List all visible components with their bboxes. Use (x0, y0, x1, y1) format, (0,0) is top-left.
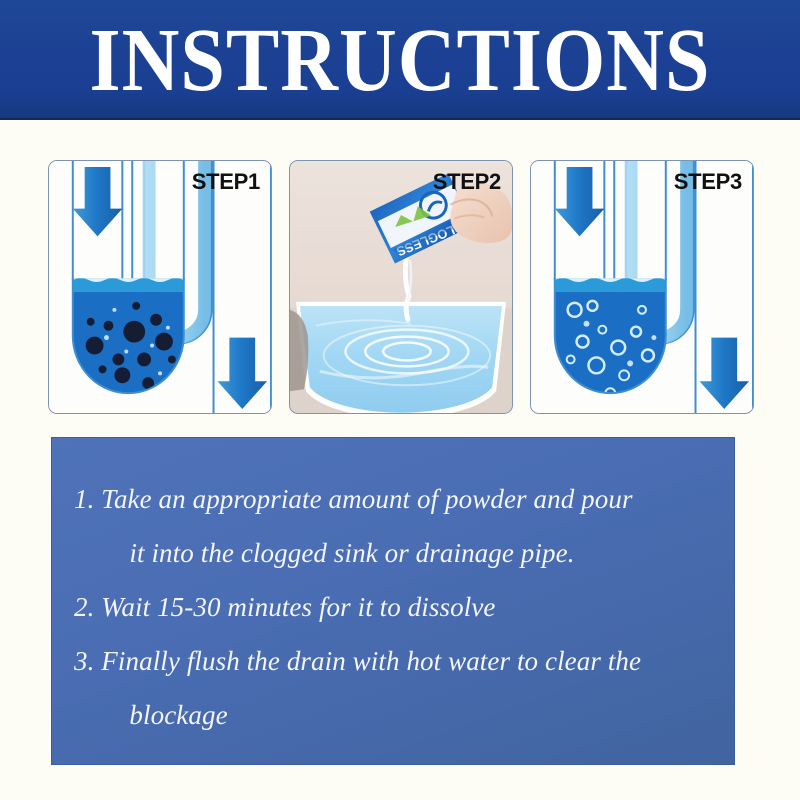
step-panel-3: STEP3 (530, 160, 754, 414)
list-item: 3. Finally flush the drain with hot wate… (74, 634, 708, 742)
step-panel-1: STEP1 (48, 160, 272, 414)
clear-drain-trap-icon (531, 161, 753, 413)
list-item: 2. Wait 15-30 minutes for it to dissolve (74, 580, 708, 634)
step-label-3: STEP3 (674, 169, 742, 195)
step-label-2: STEP2 (433, 169, 501, 195)
clogged-drain-trap-icon (49, 161, 271, 413)
page-title: INSTRUCTIONS (89, 16, 710, 106)
pouring-powder-packet-icon: CLOGLESS (290, 161, 512, 413)
step-panel-2: CLOGLESS STEP2 (289, 160, 513, 414)
instructions-panel: 1. Take an appropriate amount of powder … (51, 437, 735, 765)
instruction-list: 1. Take an appropriate amount of powder … (74, 472, 708, 742)
list-item: 1. Take an appropriate amount of powder … (74, 472, 708, 580)
step-label-1: STEP1 (192, 169, 260, 195)
steps-row: STEP1 (48, 160, 754, 414)
header-banner: INSTRUCTIONS (0, 0, 800, 120)
